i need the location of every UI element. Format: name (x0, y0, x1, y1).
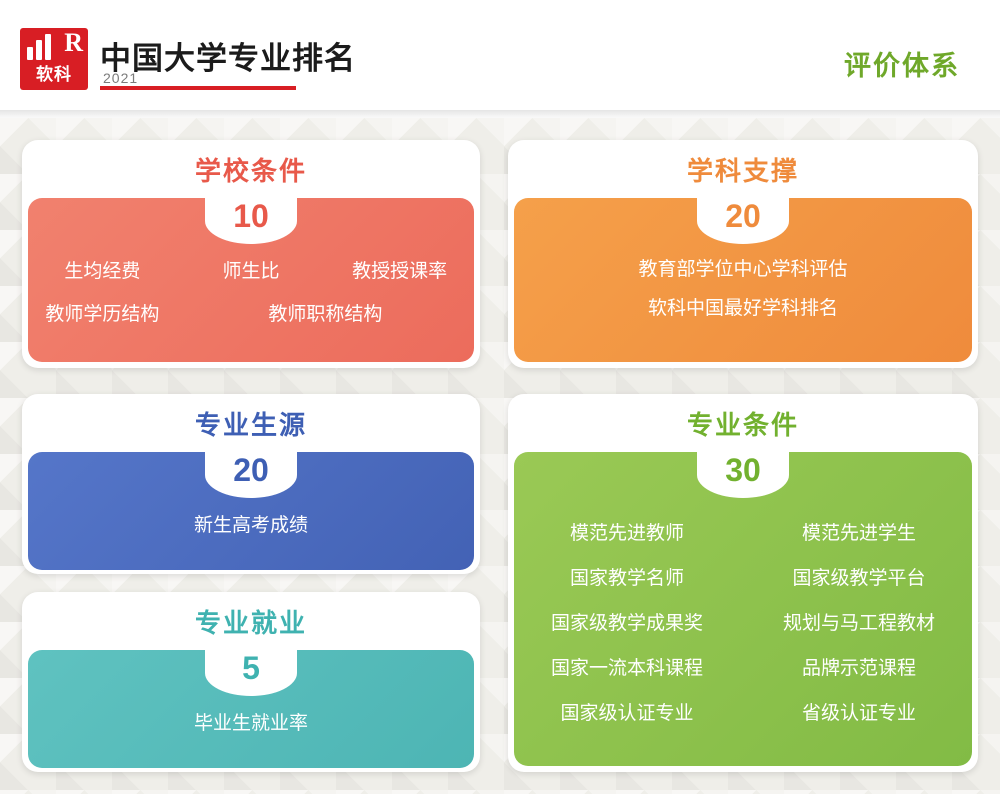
card-source-header: 专业生源 (22, 394, 480, 452)
list-item: 模范先进教师 (570, 518, 684, 545)
list-item: 国家教学名师 (570, 563, 684, 590)
list-item: 教授授课率 (352, 256, 447, 283)
list-item: 教师学历结构 (45, 299, 159, 326)
card-source-body: 20 新生高考成绩 (28, 452, 474, 570)
card-major-score-notch: 30 (697, 452, 789, 498)
list-item: 国家级认证专业 (560, 698, 693, 725)
title-underline (100, 86, 296, 90)
page-title: 中国大学专业排名 (100, 33, 356, 78)
card-source-title: 专业生源 (195, 405, 307, 442)
card-employ-score: 5 (242, 650, 260, 686)
card-employ-header: 专业就业 (22, 592, 480, 650)
list-item: 省级认证专业 (802, 698, 916, 725)
list-item: 国家级教学平台 (792, 563, 925, 590)
list-item: 教师职称结构 (268, 299, 382, 326)
card-school-conditions: 学校条件 10 生均经费 师生比 教授授课率 教师学历结构 教师职称结构 (22, 140, 480, 368)
card-major-title: 专业条件 (687, 405, 799, 442)
card-subject-score-notch: 20 (697, 198, 789, 244)
list-item: 教育部学位中心学科评估 (638, 254, 847, 281)
list-item: 新生高考成绩 (194, 510, 308, 537)
page-year: 2021 (103, 70, 138, 86)
card-major-score: 30 (725, 452, 761, 488)
card-subject-body: 20 教育部学位中心学科评估 软科中国最好学科排名 (514, 198, 972, 362)
logo-mark: R (64, 30, 83, 56)
card-major-header: 专业条件 (508, 394, 978, 452)
list-item: 生均经费 (64, 256, 140, 283)
evaluation-system-infographic: R 软科 中国大学专业排名 2021 评价体系 学校条件 10 生均经费 师生比… (0, 0, 1000, 794)
page-header: R 软科 中国大学专业排名 2021 评价体系 (0, 0, 1000, 118)
card-employment: 专业就业 5 毕业生就业率 (22, 592, 480, 772)
card-major-body: 30 模范先进教师 模范先进学生 国家教学名师 国家级教学平台 国家级教学成果奖… (514, 452, 972, 766)
list-item: 品牌示范课程 (802, 653, 916, 680)
card-source-score-notch: 20 (205, 452, 297, 498)
card-major-conditions: 专业条件 30 模范先进教师 模范先进学生 国家教学名师 国家级教学平台 国家级… (508, 394, 978, 772)
card-subject-header: 学科支撑 (508, 140, 978, 198)
card-subject-support: 学科支撑 20 教育部学位中心学科评估 软科中国最好学科排名 (508, 140, 978, 368)
card-employ-body: 5 毕业生就业率 (28, 650, 474, 768)
header-section-label: 评价体系 (844, 44, 960, 83)
card-student-source: 专业生源 20 新生高考成绩 (22, 394, 480, 574)
list-item: 师生比 (222, 256, 279, 283)
card-source-score: 20 (233, 452, 269, 488)
card-subject-score: 20 (725, 198, 761, 234)
list-item: 毕业生就业率 (194, 708, 308, 735)
card-school-header: 学校条件 (22, 140, 480, 198)
logo-text: 软科 (20, 60, 88, 85)
shanghairanking-logo: R 软科 (20, 28, 88, 90)
card-school-score-notch: 10 (205, 198, 297, 244)
card-school-score: 10 (233, 198, 269, 234)
list-item: 软科中国最好学科排名 (648, 293, 838, 320)
card-employ-score-notch: 5 (205, 650, 297, 696)
list-item: 国家一流本科课程 (551, 653, 703, 680)
card-employ-title: 专业就业 (195, 603, 307, 640)
list-item: 规划与马工程教材 (783, 608, 935, 635)
card-school-body: 10 生均经费 师生比 教授授课率 教师学历结构 教师职称结构 (28, 198, 474, 362)
list-item: 国家级教学成果奖 (551, 608, 703, 635)
card-school-title: 学校条件 (195, 151, 307, 188)
list-item: 模范先进学生 (802, 518, 916, 545)
card-subject-title: 学科支撑 (687, 151, 799, 188)
